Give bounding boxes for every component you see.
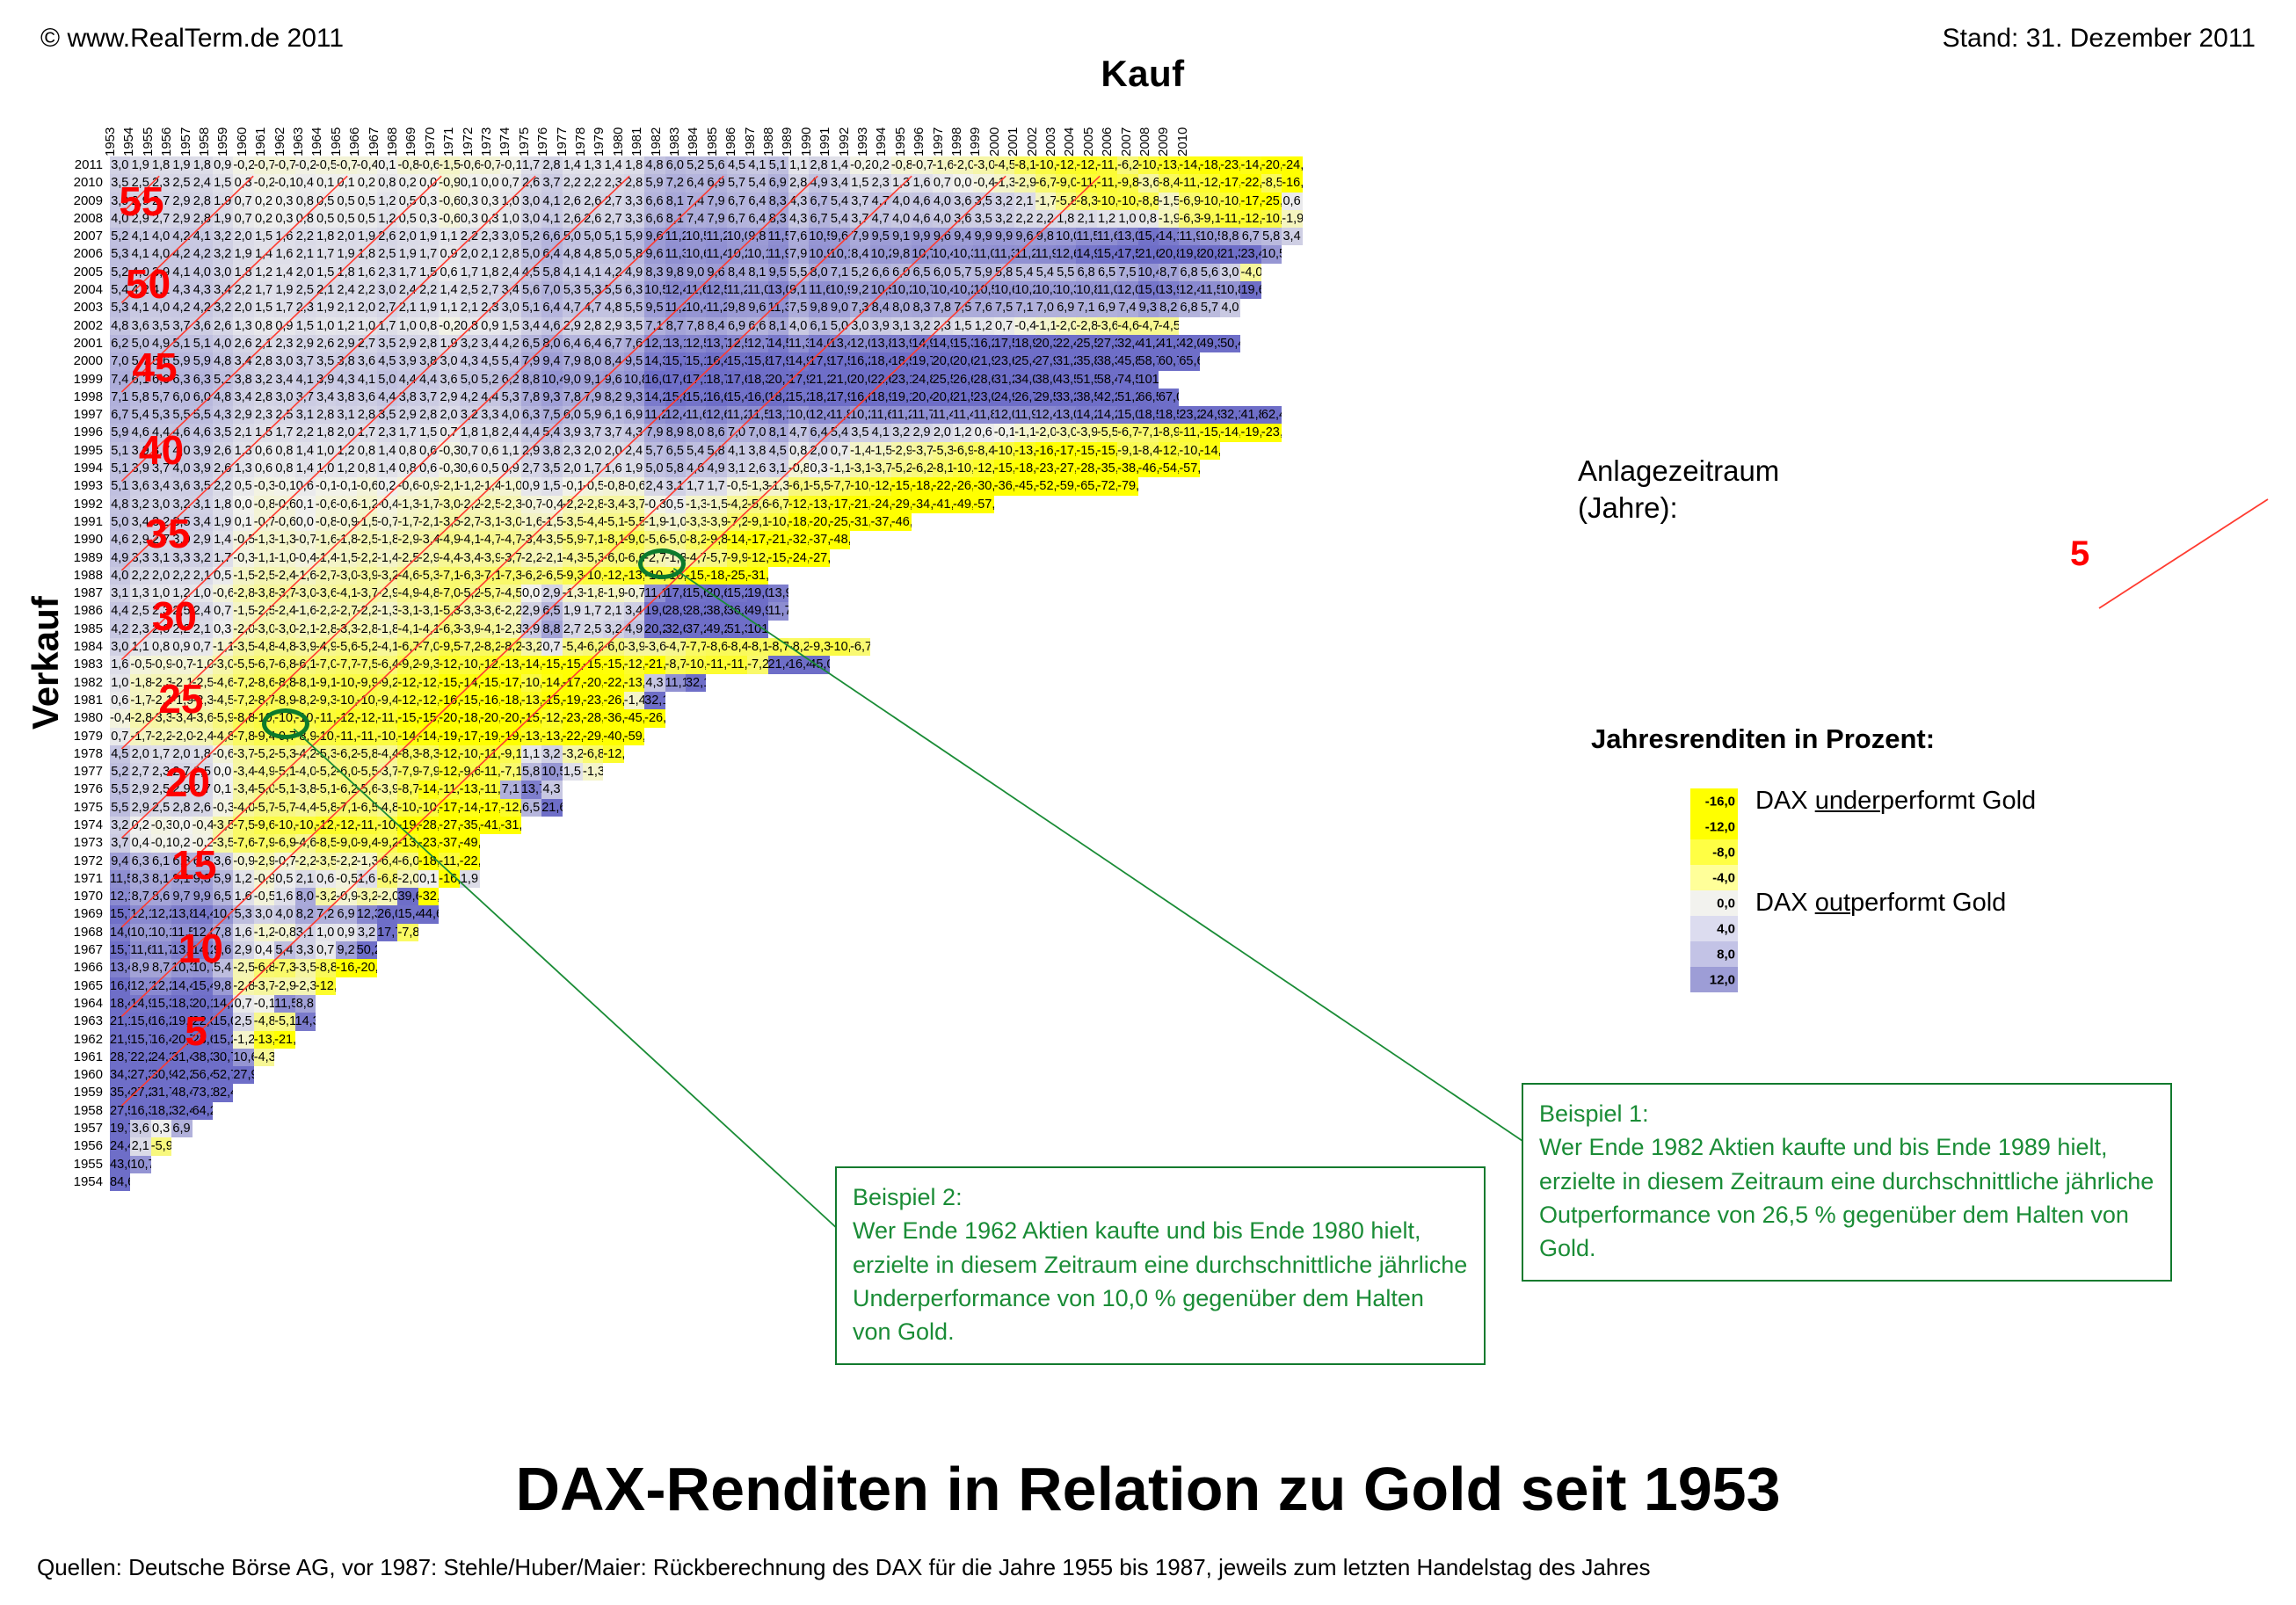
matrix-cell-2005-1990: 6,6	[870, 264, 890, 281]
matrix-cell-1989-1982: -5,7	[706, 549, 726, 567]
matrix-cell-2010-1955: 2,3	[151, 174, 171, 192]
matrix-cell-2011-1980: 6,0	[665, 156, 686, 174]
matrix-cell-2008-2005: -6,3	[1179, 210, 1199, 228]
matrix-cell-2004-1958: 3,4	[213, 281, 233, 299]
matrix-cell-1985-1967: -4,1	[397, 621, 418, 638]
matrix-cell-1983-1986: 16,4	[788, 656, 809, 673]
matrix-cell-empty	[583, 905, 603, 923]
matrix-cell-1999-1970: 5,0	[460, 371, 480, 389]
matrix-cell-empty	[809, 585, 829, 602]
matrix-cell-1990-1974: -3,5	[541, 531, 562, 548]
matrix-cell-2008-1959: 0,7	[233, 210, 253, 228]
matrix-cell-empty	[603, 924, 623, 941]
matrix-cell-2007-1962: 2,2	[295, 228, 316, 245]
matrix-cell-2002-1990: 3,9	[870, 317, 890, 335]
matrix-cell-empty	[891, 656, 912, 673]
matrix-cell-2006-1956: 4,2	[171, 245, 192, 263]
matrix-cell-1993-1994: -26,4	[953, 477, 973, 495]
matrix-cell-2010-2007: -17,0	[1220, 174, 1240, 192]
matrix-cell-1992-1960: -0,8	[254, 496, 274, 513]
matrix-cell-2003-2001: 6,9	[1097, 299, 1117, 316]
matrix-cell-2001-1999: 22,4	[1056, 335, 1076, 352]
matrix-cell-empty	[439, 1137, 459, 1155]
matrix-cell-1980-1966: -11,8	[377, 709, 397, 727]
matrix-cell-empty	[480, 995, 500, 1013]
matrix-cell-empty	[1159, 1031, 1179, 1049]
matrix-cell-empty	[809, 692, 829, 709]
matrix-cell-empty	[809, 745, 829, 763]
matrix-cell-1995-1965: 0,8	[357, 442, 377, 460]
matrix-cell-empty	[727, 888, 747, 905]
matrix-cell-2006-1996: 11,3	[994, 245, 1014, 263]
matrix-cell-1983-1978: -12,2	[624, 656, 644, 673]
matrix-cell-1977-1962: -4,0	[295, 763, 316, 781]
matrix-cell-2007-1967: 2,0	[397, 228, 418, 245]
matrix-cell-1995-1975: 2,3	[563, 442, 583, 460]
matrix-cell-empty	[541, 1137, 562, 1155]
matrix-cell-empty	[850, 995, 870, 1013]
matrix-cell-empty	[1097, 905, 1117, 923]
matrix-cell-empty	[1076, 799, 1096, 817]
matrix-cell-1995-1995: -8,4	[973, 442, 993, 460]
matrix-cell-2008-1999: 1,8	[1056, 210, 1076, 228]
matrix-cell-empty	[1097, 1084, 1117, 1101]
legend-swatch: 0,0	[1690, 890, 1738, 916]
matrix-cell-empty	[316, 1013, 336, 1030]
matrix-cell-1986-1954: 2,5	[130, 602, 150, 620]
matrix-cell-2003-1978: 5,5	[624, 299, 644, 316]
matrix-cell-empty	[1076, 834, 1096, 852]
matrix-cell-1984-1975: -5,4	[563, 638, 583, 656]
matrix-cell-2000-2003: 58,7	[1138, 352, 1159, 370]
matrix-cell-1994-1969: -0,3	[439, 460, 459, 477]
anlagezeitraum-arrow	[2092, 492, 2294, 615]
matrix-cell-1979-1955: -2,2	[151, 728, 171, 745]
matrix-cell-empty	[644, 995, 665, 1013]
matrix-cell-empty	[686, 1156, 706, 1173]
matrix-cell-1978-1964: -6,2	[336, 745, 356, 763]
matrix-cell-2009-1968: 0,3	[418, 192, 439, 210]
legend-row-0_0: 0,0DAX outperformt Gold	[1690, 890, 2036, 916]
matrix-cell-1991-1954: 3,4	[130, 513, 150, 531]
matrix-cell-2008-1971: 0,3	[480, 210, 500, 228]
matrix-cell-empty	[1240, 1084, 1261, 1101]
matrix-cell-empty	[1035, 1102, 1056, 1120]
matrix-cell-empty	[1097, 638, 1117, 656]
matrix-cell-1964-1955: 15,3	[151, 995, 171, 1013]
matrix-cell-1994-1984: 2,6	[747, 460, 767, 477]
matrix-cell-empty	[933, 602, 953, 620]
matrix-cell-empty	[1282, 406, 1302, 424]
matrix-cell-empty	[850, 959, 870, 977]
matrix-cell-empty	[1282, 549, 1302, 567]
matrix-cell-empty	[644, 1084, 665, 1101]
matrix-cell-empty	[706, 995, 726, 1013]
matrix-cell-1987-1957: 1,0	[193, 585, 213, 602]
matrix-cell-empty	[973, 977, 993, 995]
matrix-cell-empty	[747, 674, 767, 692]
matrix-cell-empty	[1200, 995, 1220, 1013]
matrix-cell-2004-1984: 11,0	[747, 281, 767, 299]
matrix-cell-empty	[870, 1137, 890, 1155]
matrix-cell-empty	[1097, 924, 1117, 941]
matrix-cell-1985-1980: 32,6	[665, 621, 686, 638]
matrix-cell-2003-1963: 1,9	[316, 299, 336, 316]
matrix-cell-empty	[1076, 853, 1096, 870]
matrix-cell-empty	[274, 1066, 294, 1084]
matrix-cell-1997-1962: 3,1	[295, 406, 316, 424]
matrix-cell-empty	[644, 799, 665, 817]
matrix-cell-1998-1986: 15,2	[788, 389, 809, 406]
matrix-cell-empty	[830, 709, 850, 727]
matrix-cell-empty	[1282, 585, 1302, 602]
legend-row-12_0: 12,0	[1690, 967, 2036, 992]
matrix-cell-empty	[1076, 1049, 1096, 1066]
copyright-notice: © www.RealTerm.de 2011	[40, 24, 344, 54]
matrix-cell-empty	[1014, 531, 1035, 548]
matrix-cell-empty	[830, 1066, 850, 1084]
matrix-cell-1999-1981: 17,1	[686, 371, 706, 389]
matrix-cell-empty	[665, 959, 686, 977]
matrix-cell-empty	[933, 1084, 953, 1101]
matrix-cell-empty	[1138, 799, 1159, 817]
matrix-cell-1971-1962: 2,1	[295, 870, 316, 888]
matrix-cell-empty	[418, 1137, 439, 1155]
matrix-cell-2000-1972: 5,4	[500, 352, 520, 370]
matrix-cell-1971-1961: 0,5	[274, 870, 294, 888]
matrix-cell-empty	[788, 692, 809, 709]
matrix-cell-1959-1954: 27,2	[130, 1084, 150, 1101]
matrix-cell-empty	[1097, 995, 1117, 1013]
matrix-cell-empty	[1179, 834, 1199, 852]
matrix-cell-empty	[1240, 870, 1261, 888]
matrix-cell-empty	[768, 817, 788, 834]
returns-matrix: 1953195419551956195719581959196019611962…	[62, 123, 1303, 1191]
matrix-cell-1974-1969: -27,6	[439, 817, 459, 834]
matrix-cell-empty	[830, 549, 850, 567]
matrix-cell-empty	[521, 888, 541, 905]
matrix-cell-empty	[1159, 1120, 1179, 1137]
matrix-cell-empty	[1138, 674, 1159, 692]
matrix-cell-2003-1973: 5,1	[521, 299, 541, 316]
matrix-cell-empty	[1138, 817, 1159, 834]
matrix-cell-1995-1954: 3,9	[130, 442, 150, 460]
matrix-cell-2011-1957: 1,8	[193, 156, 213, 174]
matrix-cell-empty	[809, 959, 829, 977]
matrix-cell-empty	[870, 1049, 890, 1066]
matrix-cell-2002-1989: 3,0	[850, 317, 870, 335]
matrix-cell-2000-1973: 7,9	[521, 352, 541, 370]
matrix-cell-empty	[1097, 870, 1117, 888]
matrix-cell-1974-1967: -19,6	[397, 817, 418, 834]
table-row: 19743,20,2-0,30,0-0,4-3,5-7,5-9,6-10,0-1…	[62, 817, 1303, 834]
matrix-cell-empty	[418, 995, 439, 1013]
matrix-cell-2003-1988: 9,0	[830, 299, 850, 316]
matrix-cell-empty	[460, 1156, 480, 1173]
matrix-cell-empty	[397, 1102, 418, 1120]
matrix-cell-empty	[994, 781, 1014, 798]
matrix-cell-empty	[1056, 834, 1076, 852]
matrix-cell-empty	[1261, 496, 1282, 513]
matrix-cell-2010-1961: -0,1	[274, 174, 294, 192]
matrix-cell-empty	[973, 1049, 993, 1066]
table-row: 19997,46,16,06,36,35,23,83,23,44,13,94,3…	[62, 371, 1303, 389]
matrix-cell-1985-1983: 51,3	[727, 621, 747, 638]
matrix-cell-empty	[1200, 888, 1220, 905]
matrix-cell-empty	[1138, 959, 1159, 977]
matrix-cell-empty	[891, 888, 912, 905]
matrix-cell-2008-1969: -0,6	[439, 210, 459, 228]
matrix-cell-empty	[665, 834, 686, 852]
matrix-cell-empty	[1220, 1137, 1240, 1155]
matrix-cell-1972-1957: 6,8	[193, 853, 213, 870]
matrix-cell-1990-1985: -21,2	[768, 531, 788, 548]
matrix-cell-2004-1987: 11,6	[809, 281, 829, 299]
matrix-cell-empty	[1138, 692, 1159, 709]
matrix-cell-empty	[1220, 941, 1240, 959]
matrix-cell-empty	[1282, 709, 1302, 727]
matrix-cell-1981-1970: -15,0	[460, 692, 480, 709]
matrix-cell-empty	[686, 763, 706, 781]
matrix-cell-2002-1983: 6,9	[727, 317, 747, 335]
matrix-cell-empty	[912, 549, 932, 567]
matrix-cell-1998-1999: 33,2	[1056, 389, 1076, 406]
matrix-cell-1999-1960: 3,2	[254, 371, 274, 389]
matrix-cell-empty	[953, 905, 973, 923]
matrix-cell-empty	[891, 870, 912, 888]
matrix-cell-empty	[706, 692, 726, 709]
matrix-cell-empty	[870, 799, 890, 817]
matrix-cell-empty	[1035, 709, 1056, 727]
matrix-cell-empty	[850, 1120, 870, 1137]
matrix-cell-empty	[603, 1137, 623, 1155]
matrix-cell-1990-1958: 1,4	[213, 531, 233, 548]
table-row: 19854,22,32,02,22,10,3-2,0-3,0-3,0-2,1-2…	[62, 621, 1303, 638]
matrix-cell-1980-1962: -10,0	[295, 709, 316, 727]
matrix-cell-empty	[1159, 709, 1179, 727]
matrix-cell-empty	[686, 888, 706, 905]
matrix-cell-empty	[439, 959, 459, 977]
matrix-cell-1973-1954: 0,4	[130, 834, 150, 852]
matrix-cell-2009-1982: 7,9	[706, 192, 726, 210]
matrix-cell-2007-1988: 9,6	[830, 228, 850, 245]
matrix-cell-empty	[1261, 692, 1282, 709]
matrix-cell-empty	[1261, 549, 1282, 567]
matrix-cell-2008-1996: 3,2	[994, 210, 1014, 228]
matrix-cell-empty	[295, 1102, 316, 1120]
matrix-cell-1959-1955: 31,7	[151, 1084, 171, 1101]
matrix-cell-empty	[809, 781, 829, 798]
matrix-cell-1992-1957: 3,1	[193, 496, 213, 513]
matrix-cell-1986-1969: -5,3	[439, 602, 459, 620]
matrix-cell-empty	[747, 745, 767, 763]
column-header-1999: 1999	[968, 144, 983, 156]
matrix-cell-empty	[1282, 1084, 1302, 1101]
matrix-cell-2004-1991: 10,2	[891, 281, 912, 299]
matrix-cell-empty	[357, 995, 377, 1013]
matrix-cell-empty	[1220, 352, 1240, 370]
matrix-cell-2010-1970: 0,1	[460, 174, 480, 192]
matrix-cell-empty	[1220, 692, 1240, 709]
matrix-cell-1980-1953: -0,4	[110, 709, 130, 727]
matrix-cell-2008-1965: 0,5	[357, 210, 377, 228]
column-header-1994: 1994	[874, 144, 889, 156]
matrix-cell-1972-1953: 9,4	[110, 853, 130, 870]
matrix-cell-empty	[686, 1066, 706, 1084]
matrix-cell-2010-1986: 2,8	[788, 174, 809, 192]
matrix-cell-2000-1989: 16,2	[850, 352, 870, 370]
matrix-cell-empty	[870, 977, 890, 995]
matrix-cell-empty	[1179, 496, 1199, 513]
matrix-cell-empty	[912, 781, 932, 798]
matrix-cell-2003-1969: 1,1	[439, 299, 459, 316]
matrix-cell-1969-1962: 8,2	[295, 905, 316, 923]
matrix-cell-1993-1980: 3,1	[665, 477, 686, 495]
matrix-cell-2007-1957: 4,1	[193, 228, 213, 245]
matrix-cell-empty	[644, 888, 665, 905]
matrix-cell-empty	[1097, 959, 1117, 977]
matrix-cell-1988-1955: 2,0	[151, 567, 171, 585]
matrix-cell-2001-1963: 2,6	[316, 335, 336, 352]
matrix-cell-empty	[706, 674, 726, 692]
matrix-cell-empty	[706, 905, 726, 923]
matrix-cell-2005-1995: 5,9	[973, 264, 993, 281]
matrix-cell-empty	[1076, 1066, 1096, 1084]
matrix-cell-empty	[912, 621, 932, 638]
matrix-cell-empty	[727, 1156, 747, 1173]
matrix-cell-empty	[830, 781, 850, 798]
matrix-cell-1997-2005: 23,2	[1179, 406, 1199, 424]
matrix-cell-empty	[1117, 638, 1137, 656]
matrix-cell-1981-1979: 32,1	[644, 692, 665, 709]
matrix-cell-empty	[1282, 817, 1302, 834]
matrix-cell-empty	[1282, 728, 1302, 745]
matrix-cell-1998-1954: 5,8	[130, 389, 150, 406]
matrix-cell-empty	[1076, 728, 1096, 745]
matrix-cell-1984-1980: -4,7	[665, 638, 686, 656]
matrix-cell-empty	[1159, 1049, 1179, 1066]
matrix-cell-1982-1964: -10,0	[336, 674, 356, 692]
matrix-cell-empty	[1035, 977, 1056, 995]
matrix-cell-empty	[994, 1066, 1014, 1084]
matrix-cell-1975-1959: -4,0	[233, 799, 253, 817]
matrix-cell-2005-1956: 4,1	[171, 264, 192, 281]
matrix-cell-1987-1982: 20,6	[706, 585, 726, 602]
matrix-cell-empty	[1200, 709, 1220, 727]
matrix-cell-empty	[870, 567, 890, 585]
matrix-cell-empty	[1261, 477, 1282, 495]
matrix-cell-empty	[1117, 1120, 1137, 1137]
matrix-cell-1979-1956: -2,0	[171, 728, 192, 745]
table-row: 197012,18,78,69,79,96,51,6-0,51,68,0-3,2…	[62, 888, 1303, 905]
matrix-cell-1999-1972: 6,2	[500, 371, 520, 389]
matrix-cell-empty	[1076, 1137, 1096, 1155]
matrix-cell-empty	[933, 941, 953, 959]
matrix-cell-empty	[1240, 941, 1261, 959]
matrix-cell-empty	[1220, 728, 1240, 745]
matrix-cell-2001-2005: 42,0	[1179, 335, 1199, 352]
matrix-cell-1992-1990: -24,6	[870, 496, 890, 513]
matrix-cell-2003-1957: 4,2	[193, 299, 213, 316]
matrix-cell-1986-1959: -1,5	[233, 602, 253, 620]
matrix-cell-empty	[747, 1066, 767, 1084]
matrix-cell-empty	[460, 1031, 480, 1049]
matrix-cell-2011-1997: -8,1	[1014, 156, 1035, 174]
matrix-cell-1999-1973: 8,8	[521, 371, 541, 389]
matrix-cell-2006-1980: 11,3	[665, 245, 686, 263]
matrix-cell-empty	[768, 888, 788, 905]
matrix-cell-empty	[624, 941, 644, 959]
table-row: 19864,42,52,32,52,40,7-1,5-2,5-2,4-1,6-2…	[62, 602, 1303, 620]
matrix-cell-2008-1968: 0,3	[418, 210, 439, 228]
matrix-cell-2001-2000: 25,5	[1076, 335, 1096, 352]
matrix-cell-2008-1984: 6,4	[747, 210, 767, 228]
matrix-cell-empty	[891, 817, 912, 834]
matrix-cell-empty	[541, 817, 562, 834]
matrix-cell-empty	[1014, 799, 1035, 817]
row-header-2002: 2002	[62, 317, 110, 335]
matrix-cell-2000-2002: 45,8	[1117, 352, 1137, 370]
matrix-cell-1964-1957: 20,1	[193, 995, 213, 1013]
matrix-cell-empty	[912, 941, 932, 959]
matrix-cell-empty	[1261, 621, 1282, 638]
matrix-cell-1995-1976: 2,0	[583, 442, 603, 460]
matrix-cell-empty	[665, 1066, 686, 1084]
matrix-cell-2005-2003: 10,4	[1138, 264, 1159, 281]
matrix-cell-empty	[1240, 389, 1261, 406]
matrix-cell-empty	[1138, 621, 1159, 638]
matrix-cell-empty	[336, 1049, 356, 1066]
matrix-cell-empty	[768, 728, 788, 745]
matrix-cell-empty	[644, 1120, 665, 1137]
matrix-cell-empty	[994, 692, 1014, 709]
matrix-cell-1995-1986: 0,8	[788, 442, 809, 460]
matrix-cell-1992-1965: -1,2	[357, 496, 377, 513]
matrix-cell-2003-1956: 4,2	[171, 299, 192, 316]
matrix-cell-2003-1986: 7,5	[788, 299, 809, 316]
matrix-cell-empty	[1159, 745, 1179, 763]
matrix-cell-1976-1969: -11,2	[439, 781, 459, 798]
matrix-cell-1973-1961: -6,9	[274, 834, 294, 852]
matrix-cell-1997-1983: 11,2	[727, 406, 747, 424]
matrix-cell-2000-1954: 5,7	[130, 352, 150, 370]
matrix-cell-empty	[254, 1137, 274, 1155]
matrix-cell-empty	[644, 1013, 665, 1030]
matrix-cell-empty	[665, 1102, 686, 1120]
matrix-cell-2004-2004: 13,9	[1159, 281, 1179, 299]
matrix-cell-1987-1953: 3,1	[110, 585, 130, 602]
matrix-cell-1998-1976: 7,9	[583, 389, 603, 406]
matrix-cell-2000-1991: 18,5	[891, 352, 912, 370]
matrix-cell-1980-1968: -15,9	[418, 709, 439, 727]
matrix-cell-empty	[1282, 959, 1302, 977]
matrix-cell-empty	[1014, 567, 1035, 585]
matrix-cell-2004-2007: 10,8	[1220, 281, 1240, 299]
matrix-cell-1997-1986: 10,0	[788, 406, 809, 424]
matrix-cell-empty	[1282, 1066, 1302, 1084]
matrix-cell-empty	[706, 781, 726, 798]
matrix-cell-1969-1966: 26,0	[377, 905, 397, 923]
matrix-cell-2006-1972: 2,8	[500, 245, 520, 263]
matrix-cell-2011-1955: 1,8	[151, 156, 171, 174]
matrix-cell-1968-1964: 0,9	[336, 924, 356, 941]
matrix-cell-2004-1954: 4,2	[130, 281, 150, 299]
matrix-cell-1998-1979: 14,2	[644, 389, 665, 406]
matrix-cell-empty	[1159, 941, 1179, 959]
matrix-cell-empty	[1220, 638, 1240, 656]
matrix-cell-empty	[1097, 621, 1117, 638]
matrix-cell-2006-1983: 10,2	[727, 245, 747, 263]
